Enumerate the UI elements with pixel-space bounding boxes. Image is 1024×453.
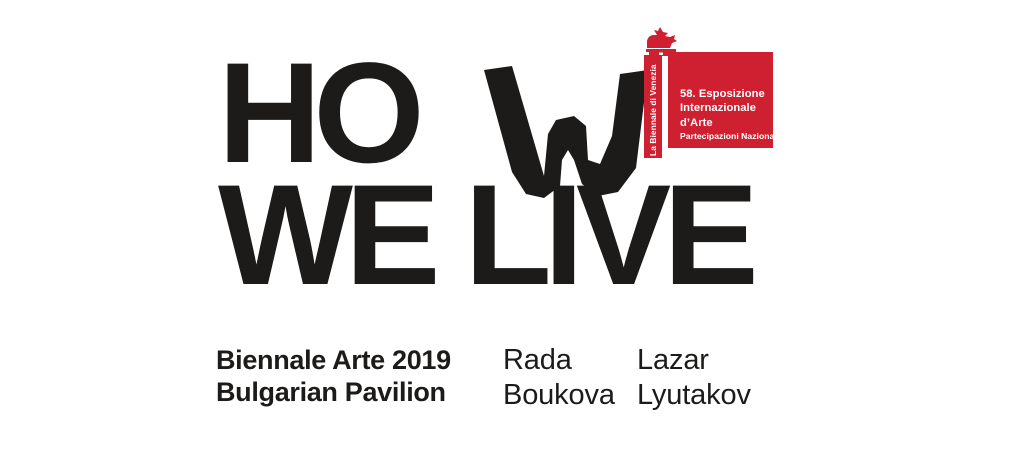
credit-event-name: Biennale Arte 2019 Bulgarian Pavilion <box>216 344 451 409</box>
credits: Biennale Arte 2019 Bulgarian Pavilion Ra… <box>0 0 1024 453</box>
poster-canvas: HO WE LIVE La Biennale di Venezia 58. Es… <box>0 0 1024 453</box>
credit-artist-lazar-lyutakov: Lazar Lyutakov <box>637 343 751 413</box>
credit-artist-rada-boukova: Rada Boukova <box>503 343 615 413</box>
